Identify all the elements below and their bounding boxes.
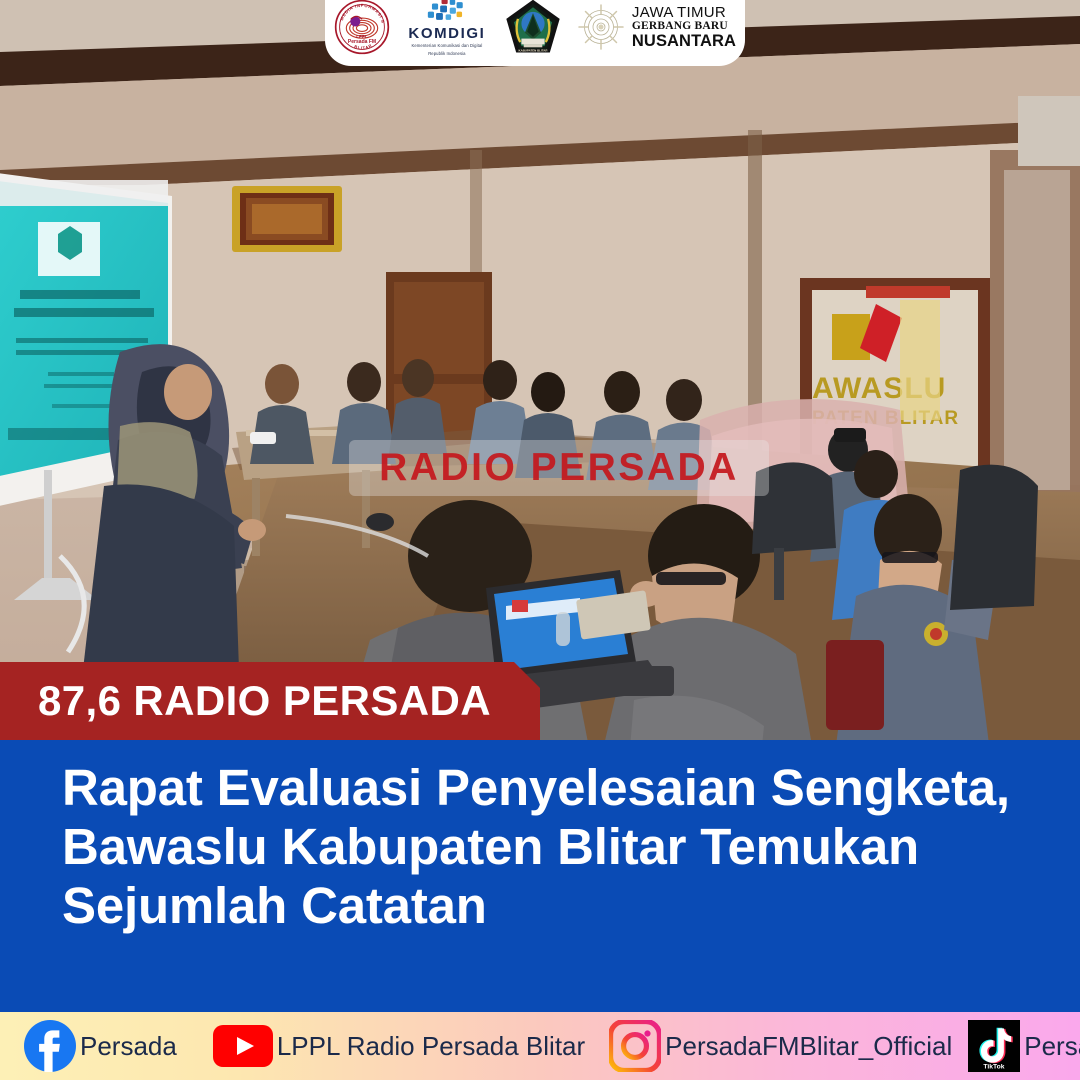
frequency-tag-text: 87,6 RADIO PERSADA bbox=[38, 677, 491, 725]
youtube-icon[interactable] bbox=[213, 1024, 273, 1068]
kabupaten-blitar-emblem: KABUPATEN BLITAR bbox=[504, 0, 562, 66]
svg-text:Persada FM: Persada FM bbox=[348, 39, 376, 45]
social-item-tiktok[interactable]: TikTok PersadaFMBlitar_Official bbox=[952, 1020, 1080, 1072]
frequency-tag: 87,6 RADIO PERSADA bbox=[0, 662, 540, 740]
komdigi-logo: KOMDIGI Kementerian Komunikasi dan Digit… bbox=[404, 0, 490, 66]
social-item-youtube[interactable]: LPPL Radio Persada Blitar bbox=[177, 1024, 585, 1068]
radio-persada-watermark: RADIO PERSADA bbox=[349, 440, 769, 496]
watermark-text: RADIO PERSADA bbox=[379, 446, 739, 490]
lppl-radio-persada-blitar-logo: LPPL Persada FM MEDIA INFORMASI & HIBURA… bbox=[334, 0, 390, 66]
komdigi-sub-line-2: Republik Indonesia bbox=[428, 51, 465, 56]
instagram-icon[interactable] bbox=[609, 1020, 661, 1072]
headline-band: Rapat Evaluasi Penyelesaian Sengketa, Ba… bbox=[0, 740, 1080, 1012]
meeting-photo: AWASLU PATEN BLITAR bbox=[0, 0, 1080, 755]
instagram-handle: PersadaFMBlitar_Official bbox=[665, 1031, 952, 1062]
social-footer: Persada LPPL Radio Persada Blitar bbox=[0, 1012, 1080, 1080]
tiktok-handle: PersadaFMBlitar_Official bbox=[1024, 1031, 1080, 1062]
jatim-line-1: JAWA TIMUR bbox=[632, 5, 736, 20]
facebook-handle: Persada bbox=[80, 1031, 177, 1062]
social-item-instagram[interactable]: PersadaFMBlitar_Official bbox=[585, 1020, 952, 1072]
jawa-timur-gerbang-baru-nusantara-logo: JAWA TIMUR GERBANG BARU NUSANTARA bbox=[576, 0, 736, 66]
jatim-line-3: NUSANTARA bbox=[632, 33, 736, 50]
komdigi-wordmark: KOMDIGI bbox=[408, 26, 485, 41]
komdigi-sub-line-1: Kementerian Komunikasi dan Digital bbox=[411, 43, 482, 48]
jatim-line-2: GERBANG BARU bbox=[632, 21, 736, 33]
facebook-icon[interactable] bbox=[24, 1020, 76, 1072]
partner-logo-banner: LPPL Persada FM MEDIA INFORMASI & HIBURA… bbox=[325, 0, 745, 66]
news-graphic-card: AWASLU PATEN BLITAR bbox=[0, 0, 1080, 1080]
tiktok-icon[interactable]: TikTok bbox=[968, 1020, 1020, 1072]
page-title: Rapat Evaluasi Penyelesaian Sengketa, Ba… bbox=[62, 758, 1052, 935]
tiktok-icon-label: TikTok bbox=[984, 1063, 1005, 1070]
youtube-handle: LPPL Radio Persada Blitar bbox=[277, 1031, 585, 1062]
social-item-facebook[interactable]: Persada bbox=[0, 1020, 177, 1072]
svg-text:LPPL: LPPL bbox=[356, 34, 368, 39]
kabupaten-blitar-caption: KABUPATEN BLITAR bbox=[518, 48, 548, 52]
